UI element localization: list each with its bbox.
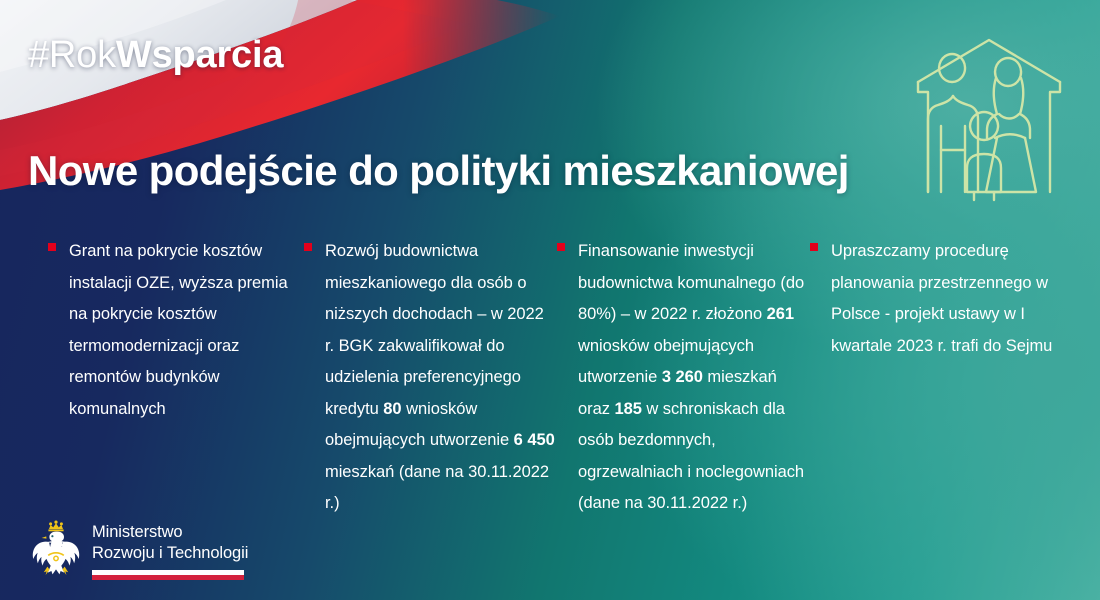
bullet-column-2: Rozwój budownictwa mieszkaniowego dla os… (304, 236, 557, 520)
hashtag-regular-part: #Rok (28, 34, 116, 76)
bullet-text-2: Rozwój budownictwa mieszkaniowego dla os… (325, 236, 557, 520)
bullet-text-1: Grant na pokrycie kosztów instalacji OZE… (69, 236, 304, 425)
square-bullet-icon (557, 243, 565, 251)
ministry-logo: Ministerstwo Rozwoju i Technologii (30, 519, 248, 580)
polish-eagle-icon (30, 519, 82, 579)
ministry-name-line1: Ministerstwo (92, 522, 248, 543)
bullet-text-4: Upraszczamy procedurę planowania przestr… (831, 236, 1078, 362)
square-bullet-icon (810, 243, 818, 251)
bullet-column-3: Finansowanie inwestycji budownictwa komu… (557, 236, 810, 520)
ministry-logo-text: Ministerstwo Rozwoju i Technologii (92, 519, 248, 580)
bullet-columns: Grant na pokrycie kosztów instalacji OZE… (48, 236, 1078, 520)
house-family-lineart-icon (904, 34, 1074, 202)
infographic-poster: #RokWsparcia Nowe podejście do polityki … (0, 0, 1100, 600)
hashtag-bold-part: Wsparcia (116, 34, 283, 76)
campaign-hashtag: #RokWsparcia (28, 36, 283, 74)
ministry-name-line2: Rozwoju i Technologii (92, 543, 248, 564)
bullet-text-3: Finansowanie inwestycji budownictwa komu… (578, 236, 810, 520)
flag-bar (92, 570, 244, 580)
square-bullet-icon (304, 243, 312, 251)
bullet-column-1: Grant na pokrycie kosztów instalacji OZE… (48, 236, 304, 425)
square-bullet-icon (48, 243, 56, 251)
bullet-column-4: Upraszczamy procedurę planowania przestr… (810, 236, 1078, 362)
page-title: Nowe podejście do polityki mieszkaniowej (28, 147, 849, 194)
flag-bar-red (92, 575, 244, 580)
